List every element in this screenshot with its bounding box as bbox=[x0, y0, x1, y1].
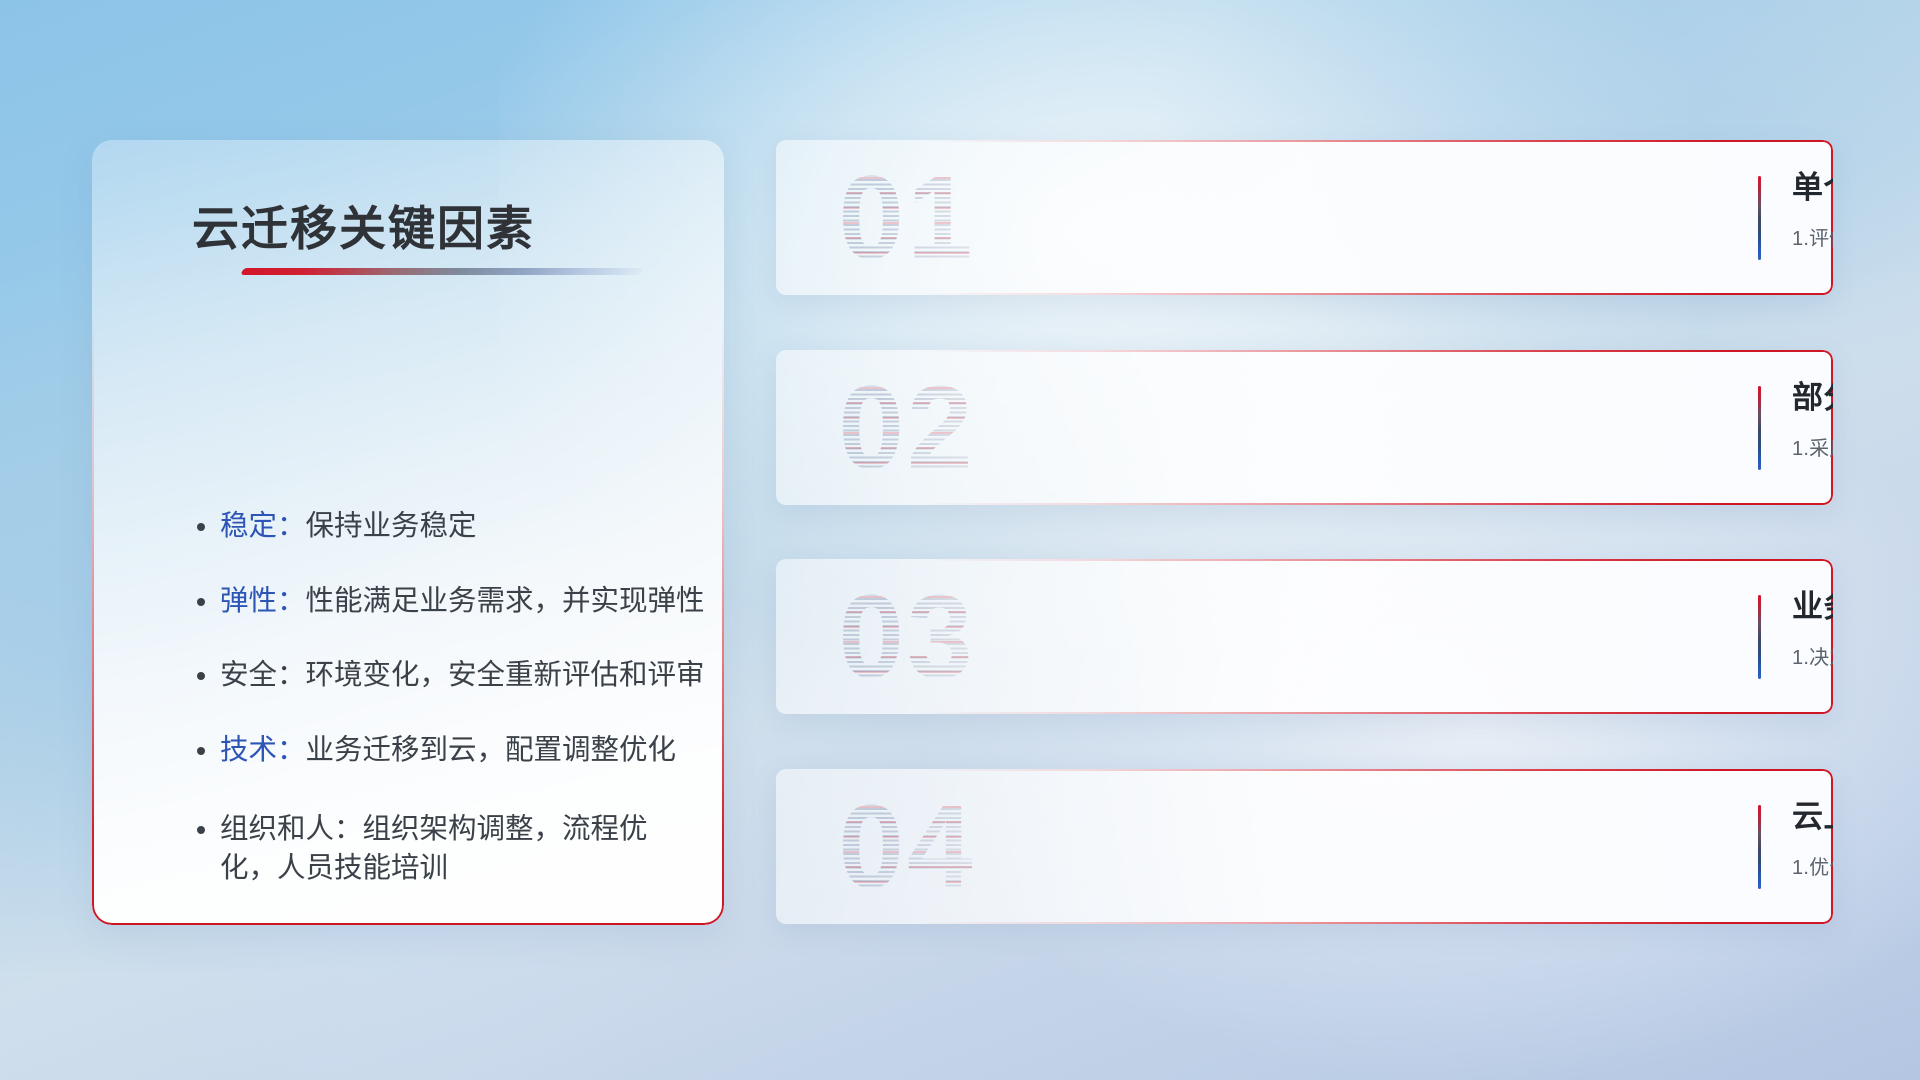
slide-stage: 云迁移关键因素 稳定：保持业务稳定 弹性：性能满足业务需求，并实现弹性 安全：环… bbox=[0, 0, 1920, 1080]
step-content-04: 云上系统运营优化 1.优化运营模式和技术模式 2.云计算变成默认选项 bbox=[1792, 799, 1807, 880]
step-divider-bar bbox=[1758, 805, 1761, 889]
list-item-label: 稳定： bbox=[220, 510, 306, 542]
list-item: 组织和人：组织架构调整，流程优化，人员技能培训 bbox=[220, 810, 680, 888]
list-item-text: 性能满足业务需求，并实现弹性 bbox=[306, 585, 705, 617]
step-divider-bar bbox=[1758, 176, 1761, 260]
step-number-04: 04 bbox=[812, 769, 1002, 924]
step-content-01: 单个项目尝试上云 1.评估上云的价值 2.通常以某个项目作为尝试 bbox=[1792, 170, 1807, 251]
list-item: 弹性：性能满足业务需求，并实现弹性 bbox=[220, 587, 680, 616]
step-card-01[interactable]: 01 01 单个项目尝试上云 1.评估上云的价值 2.通常以某个项目作为尝试 bbox=[776, 140, 1833, 295]
step-number-03: 03 bbox=[812, 559, 1002, 714]
step-number-02: 02 bbox=[812, 350, 1002, 505]
key-factors-list: 稳定：保持业务稳定 弹性：性能满足业务需求，并实现弹性 安全：环境变化，安全重新… bbox=[220, 512, 680, 888]
step-title: 单个项目尝试上云 bbox=[1792, 170, 1807, 206]
step-content-02: 部分业务系统上云 1.采用公有云作为数据中心的延伸 2.建立运营和安全规范 bbox=[1792, 380, 1807, 461]
list-item: 稳定：保持业务稳定 bbox=[220, 512, 680, 541]
step-title: 云上系统运营优化 bbox=[1792, 799, 1807, 835]
list-item-label: 弹性： bbox=[220, 585, 306, 617]
step-detail: 1.决定长期使用云计算 2.迁移应用上云，甚至包括核心应用 bbox=[1792, 641, 1807, 670]
step-card-04[interactable]: 04 04 云上系统运营优化 1.优化运营模式和技术模式 2.云计算变成默认选项 bbox=[776, 769, 1833, 924]
list-item-text: 保持业务稳定 bbox=[306, 510, 477, 542]
title-underline-rule bbox=[240, 268, 643, 275]
list-item-text: 业务迁移到云，配置调整优化 bbox=[306, 734, 677, 766]
step-title: 业务系统全面上云 bbox=[1792, 589, 1807, 625]
step-number-01: 01 bbox=[812, 140, 1002, 295]
step-card-02[interactable]: 02 02 部分业务系统上云 1.采用公有云作为数据中心的延伸 2.建立运营和安… bbox=[776, 350, 1833, 505]
list-item-label: 组织和人： bbox=[220, 813, 363, 845]
step-detail: 1.采用公有云作为数据中心的延伸 2.建立运营和安全规范 bbox=[1792, 432, 1807, 461]
step-detail: 1.优化运营模式和技术模式 2.云计算变成默认选项 bbox=[1792, 851, 1807, 880]
list-item-label: 安全： bbox=[220, 659, 306, 691]
step-detail: 1.评估上云的价值 2.通常以某个项目作为尝试 bbox=[1792, 222, 1807, 251]
step-title: 部分业务系统上云 bbox=[1792, 380, 1807, 416]
list-item: 技术：业务迁移到云，配置调整优化 bbox=[220, 736, 680, 765]
step-divider-bar bbox=[1758, 386, 1761, 470]
step-content-03: 业务系统全面上云 1.决定长期使用云计算 2.迁移应用上云，甚至包括核心应用 bbox=[1792, 589, 1807, 670]
page-title: 云迁移关键因素 bbox=[192, 190, 535, 259]
list-item: 安全：环境变化，安全重新评估和评审 bbox=[220, 661, 680, 690]
step-card-03[interactable]: 03 03 业务系统全面上云 1.决定长期使用云计算 2.迁移应用上云，甚至包括… bbox=[776, 559, 1833, 714]
list-item-label: 技术： bbox=[220, 734, 306, 766]
step-divider-bar bbox=[1758, 595, 1761, 679]
list-item-text: 环境变化，安全重新评估和评审 bbox=[306, 659, 705, 691]
key-factors-card: 云迁移关键因素 稳定：保持业务稳定 弹性：性能满足业务需求，并实现弹性 安全：环… bbox=[92, 140, 724, 925]
